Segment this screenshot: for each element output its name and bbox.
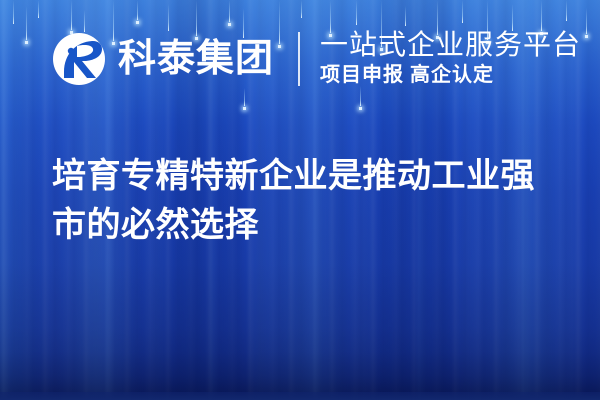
light-ray	[168, 4, 169, 31]
light-dot	[228, 23, 231, 26]
light-ray	[356, 0, 357, 25]
promo-banner: 科泰集团 一站式企业服务平台 项目申报 高企认定 培育专精特新企业是推动工业强市…	[0, 0, 600, 400]
light-ray	[462, 0, 463, 23]
slogan-main: 一站式企业服务平台	[320, 30, 581, 60]
header-divider	[298, 32, 300, 86]
light-ray	[244, 88, 245, 106]
light-dot	[243, 107, 246, 110]
light-ray	[512, 4, 513, 31]
light-ray	[38, 0, 39, 18]
light-dot	[25, 41, 28, 44]
brand-name: 科泰集团	[118, 40, 274, 78]
headline-text: 培育专精特新企业是推动工业强市的必然选择	[52, 152, 557, 251]
light-ray	[541, 0, 542, 31]
slogan-sub: 项目申报 高企认定	[320, 63, 581, 88]
slogan-block: 一站式企业服务平台 项目申报 高企认定	[320, 30, 581, 87]
light-ray	[26, 6, 27, 40]
light-ray	[301, 0, 302, 18]
ketai-circular-logo-icon	[52, 32, 106, 86]
light-ray	[586, 8, 587, 34]
light-ray	[566, 0, 567, 21]
light-ray	[13, 0, 14, 24]
light-ray	[71, 0, 72, 30]
light-ray	[405, 6, 406, 26]
light-ray	[137, 0, 138, 20]
light-dot	[136, 21, 139, 24]
light-ray	[229, 0, 230, 22]
banner-header: 科泰集团 一站式企业服务平台 项目申报 高企认定	[52, 28, 581, 90]
light-dot	[359, 107, 362, 110]
bottom-edge-band	[0, 392, 600, 400]
light-dot	[585, 35, 588, 38]
